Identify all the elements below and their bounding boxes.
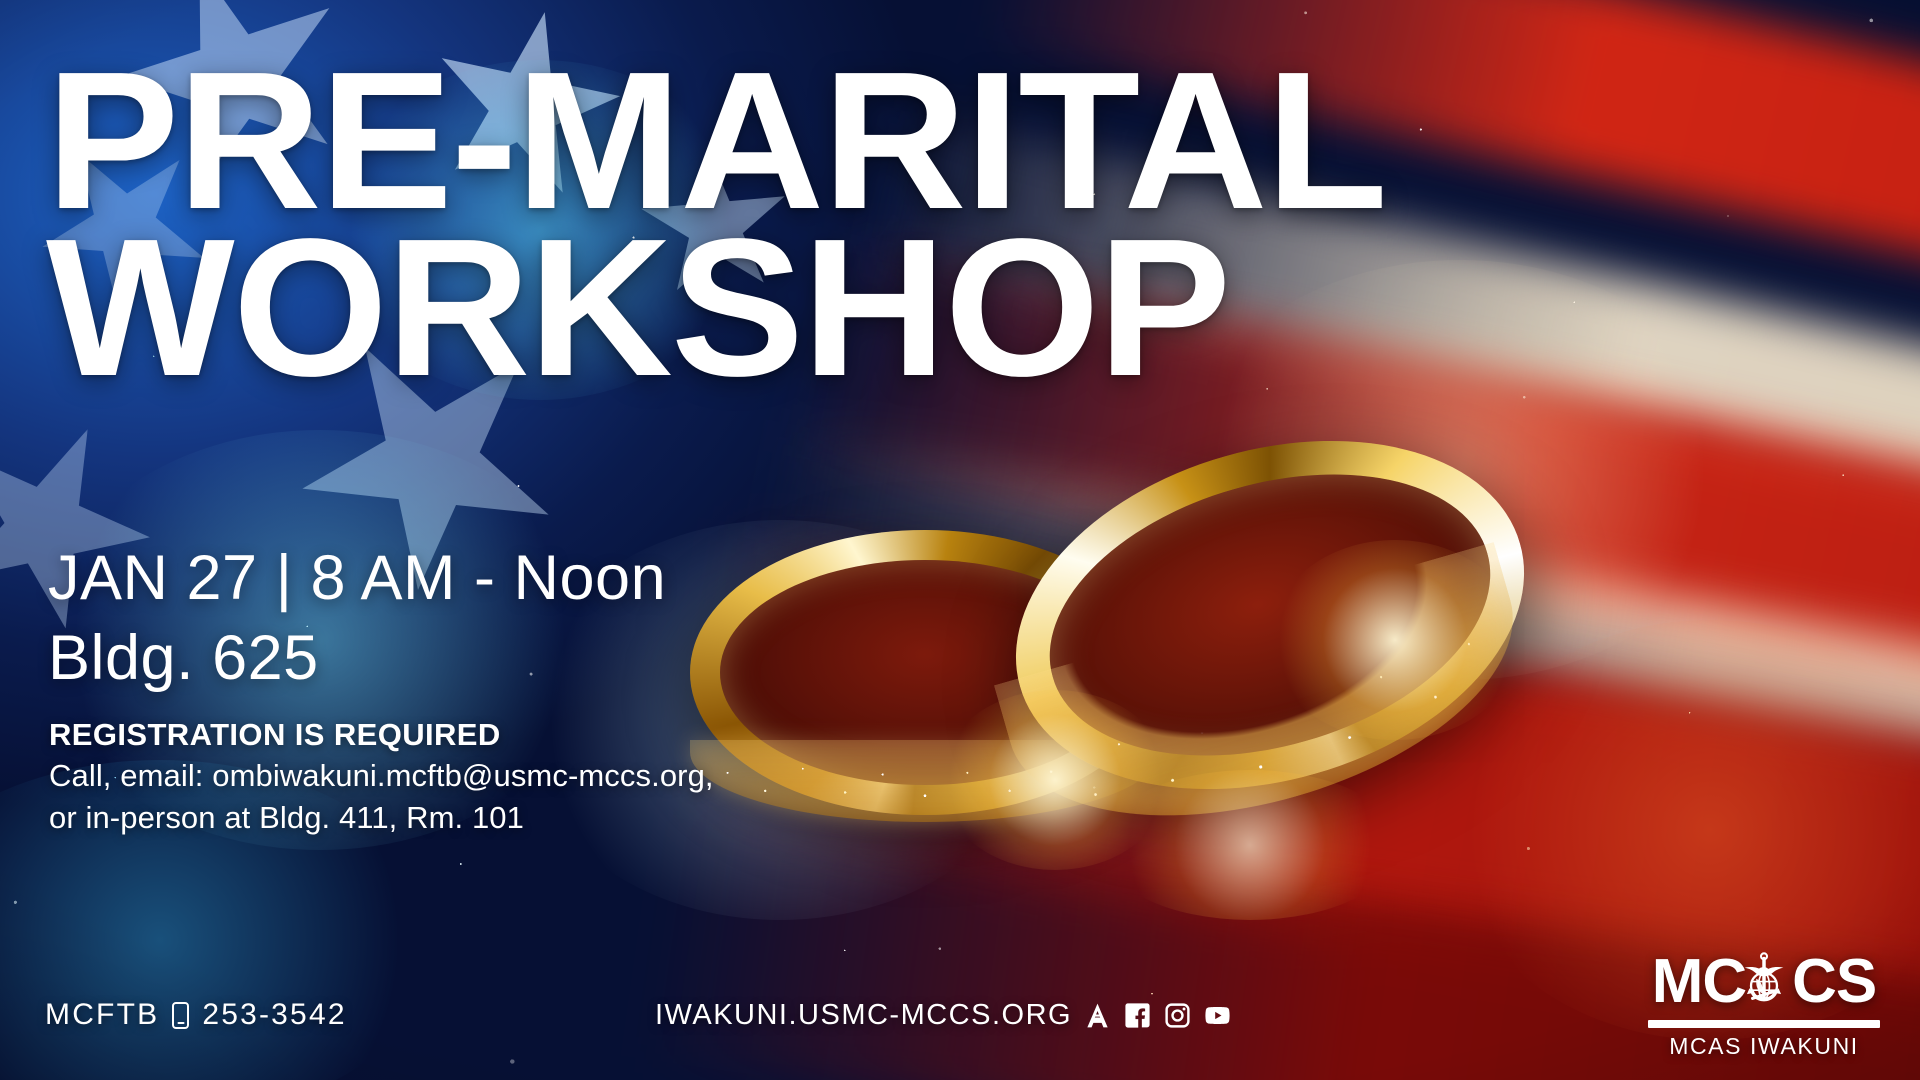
athena-a-icon[interactable]	[1083, 1001, 1112, 1030]
youtube-icon[interactable]	[1203, 1001, 1232, 1030]
footer-contact: MCFTB 253-3542	[45, 998, 347, 1032]
footer-org-label: MCFTB	[45, 998, 159, 1032]
registration-heading: REGISTRATION IS REQUIRED	[49, 717, 501, 753]
mccs-wordmark: MC CS	[1648, 950, 1880, 1014]
footer-website[interactable]: IWAKUNI.USMC-MCCS.ORG	[655, 999, 1072, 1032]
mccs-logo-divider	[1648, 1020, 1880, 1028]
mccs-logo: MC CS	[1648, 950, 1880, 1060]
eagle-globe-anchor-icon	[1733, 951, 1795, 1013]
facebook-icon[interactable]	[1123, 1001, 1152, 1030]
mccs-logo-subtitle: MCAS IWAKUNI	[1648, 1033, 1880, 1060]
registration-inperson: or in-person at Bldg. 411, Rm. 101	[49, 800, 524, 836]
poster: PRE-MARITAL WORKSHOP JAN 27 | 8 AM - Noo…	[0, 0, 1920, 1080]
mobile-phone-icon	[172, 1002, 189, 1029]
mccs-wordmark-right: CS	[1792, 951, 1876, 1013]
event-location: Bldg. 625	[48, 622, 319, 694]
poster-content: PRE-MARITAL WORKSHOP JAN 27 | 8 AM - Noo…	[0, 0, 1920, 1080]
mccs-wordmark-left: MC	[1652, 951, 1746, 1013]
poster-title: PRE-MARITAL WORKSHOP	[46, 58, 1474, 391]
footer-phone-number: 253-3542	[202, 998, 346, 1032]
footer-web-and-social: IWAKUNI.USMC-MCCS.ORG	[655, 999, 1232, 1032]
event-datetime: JAN 27 | 8 AM - Noon	[48, 542, 666, 614]
instagram-icon[interactable]	[1163, 1001, 1192, 1030]
registration-contact: Call, email: ombiwakuni.mcftb@usmc-mccs.…	[49, 758, 714, 794]
